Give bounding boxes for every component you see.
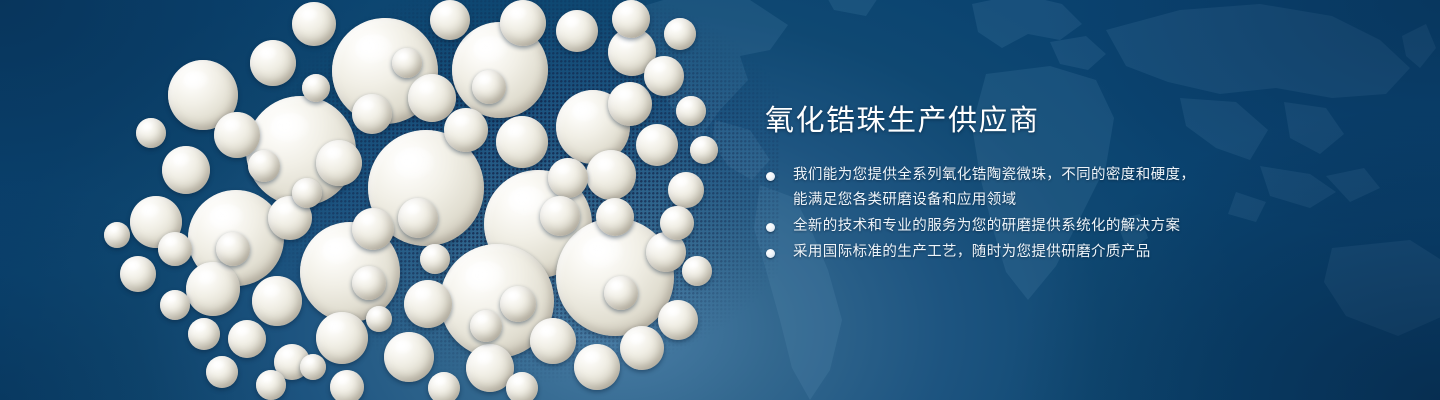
list-item: 我们能为您提供全系列氧化锆陶瓷微珠，不同的密度和硬度， 能满足您各类研磨设备和应… — [765, 163, 1385, 213]
hero-banner: 氧化锆珠生产供应商 我们能为您提供全系列氧化锆陶瓷微珠，不同的密度和硬度， 能满… — [0, 0, 1440, 400]
list-item: 全新的技术和专业的服务为您的研磨提供系统化的解决方案 — [765, 214, 1385, 239]
banner-copy: 氧化锆珠生产供应商 我们能为您提供全系列氧化锆陶瓷微珠，不同的密度和硬度， 能满… — [765, 104, 1385, 266]
list-item-line-1: 全新的技术和专业的服务为您的研磨提供系统化的解决方案 — [793, 218, 1180, 234]
bullet-dot-icon — [766, 249, 775, 258]
zirconia-beads-photo — [0, 0, 760, 400]
list-item-line-2: 能满足您各类研磨设备和应用领域 — [793, 188, 1385, 213]
list-item-line-1: 采用国际标准的生产工艺，随时为您提供研磨介质产品 — [793, 244, 1151, 260]
feature-list: 我们能为您提供全系列氧化锆陶瓷微珠，不同的密度和硬度， 能满足您各类研磨设备和应… — [765, 163, 1385, 265]
list-item-line-1: 我们能为您提供全系列氧化锆陶瓷微珠，不同的密度和硬度， — [793, 167, 1195, 183]
bullet-dot-icon — [766, 223, 775, 232]
list-item: 采用国际标准的生产工艺，随时为您提供研磨介质产品 — [765, 240, 1385, 265]
page-title: 氧化锆珠生产供应商 — [765, 104, 1385, 139]
bullet-dot-icon — [766, 172, 775, 181]
